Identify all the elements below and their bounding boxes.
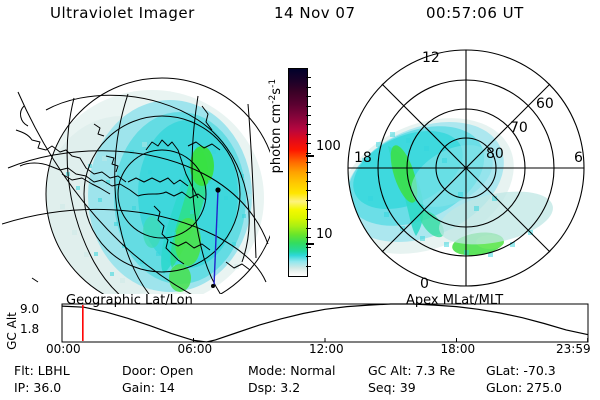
status-flt: Flt: LBHL (14, 363, 70, 378)
mlt-spokes (348, 50, 584, 286)
colorbar-axis-title: photon cm-2s-1 (268, 66, 284, 186)
status-value: LBHL (38, 363, 70, 378)
status-label: Door: (122, 363, 160, 378)
altitude-ytick-1.8: 1.8 (20, 322, 39, 336)
status-door: Door: Open (122, 363, 193, 378)
status-mode: Mode: Normal (248, 363, 335, 378)
status-ip: IP: 36.0 (14, 380, 61, 395)
status-label: GLon: (486, 380, 526, 395)
mlt-label-12: 12 (422, 50, 440, 66)
colorbar-ticks (306, 68, 314, 275)
mlt-label-18: 18 (354, 150, 372, 166)
mlat-ring-labels: 60 70 80 (486, 96, 554, 162)
aurora-emission-layer (40, 90, 264, 294)
mlat-label-70: 70 (510, 120, 528, 136)
altitude-xtick-0000: 00:00 (46, 342, 81, 356)
status-value: 7.3 Re (416, 363, 456, 378)
status-gain: Gain: 14 (122, 380, 175, 395)
header-bar: Ultraviolet Imager 14 Nov 07 00:57:06 UT (0, 4, 600, 34)
altitude-xtick-0600: 06:00 (178, 342, 213, 356)
status-label: GLat: (486, 363, 523, 378)
mlat-label-60: 60 (536, 96, 554, 112)
status-value: 275.0 (526, 380, 562, 395)
status-value: Open (160, 363, 193, 378)
mlt-label-6: 6 (574, 150, 583, 166)
status-value: -70.3 (523, 363, 555, 378)
mlat-label-80: 80 (486, 146, 504, 162)
status-label: GC Alt: (368, 363, 416, 378)
status-readout: Flt: LBHLDoor: OpenMode: NormalGC Alt: 7… (0, 363, 600, 399)
status-seq: Seq: 39 (368, 380, 416, 395)
altitude-ytick-9.0: 9.0 (20, 302, 39, 316)
altitude-strip-chart[interactable] (0, 300, 600, 360)
colorbar-tick-label-10: 10 (316, 228, 333, 241)
altitude-curve (62, 304, 588, 342)
status-gcalt: GC Alt: 7.3 Re (368, 363, 455, 378)
ground-track-marker (211, 284, 215, 288)
apex-mlt-panel[interactable]: 12 6 0 18 60 70 80 (332, 46, 598, 294)
status-value: 3.2 (280, 380, 300, 395)
status-dsp: Dsp: 3.2 (248, 380, 300, 395)
sub-satellite-point (215, 187, 220, 192)
geographic-polar-plot (2, 46, 270, 294)
status-glat: GLat: -70.3 (486, 363, 556, 378)
observation-date: 14 Nov 07 (274, 4, 356, 22)
status-glon: GLon: 275.0 (486, 380, 562, 395)
altitude-plot (0, 300, 600, 360)
colorbar-tick-10 (306, 243, 314, 245)
altitude-xtick-1800: 18:00 (441, 342, 476, 356)
status-label: Seq: (368, 380, 400, 395)
colorbar-tick-label-100: 100 (316, 140, 341, 153)
ultraviolet-imager-display: Ultraviolet Imager 14 Nov 07 00:57:06 UT (0, 0, 600, 400)
altitude-xtick-1200: 12:00 (309, 342, 344, 356)
instrument-title: Ultraviolet Imager (50, 4, 195, 22)
status-label: Mode: (248, 363, 290, 378)
status-label: Gain: (122, 380, 159, 395)
apex-polar-dial: 12 6 0 18 60 70 80 (332, 46, 598, 294)
colorbar-gradient (288, 68, 308, 277)
observation-time: 00:57:06 UT (426, 4, 524, 22)
status-value: 36.0 (33, 380, 61, 395)
geographic-image-panel[interactable] (2, 46, 270, 294)
colorbar-tick-100 (306, 155, 314, 157)
mlt-label-0: 0 (420, 276, 429, 292)
altitude-xtick-2359: 23:59 (556, 342, 591, 356)
status-value: 14 (159, 380, 175, 395)
status-value: Normal (290, 363, 335, 378)
status-label: IP: (14, 380, 33, 395)
status-value: 39 (400, 380, 416, 395)
status-label: Dsp: (248, 380, 280, 395)
status-label: Flt: (14, 363, 38, 378)
colorbar: photon cm-2s-1 10010 (262, 60, 332, 295)
